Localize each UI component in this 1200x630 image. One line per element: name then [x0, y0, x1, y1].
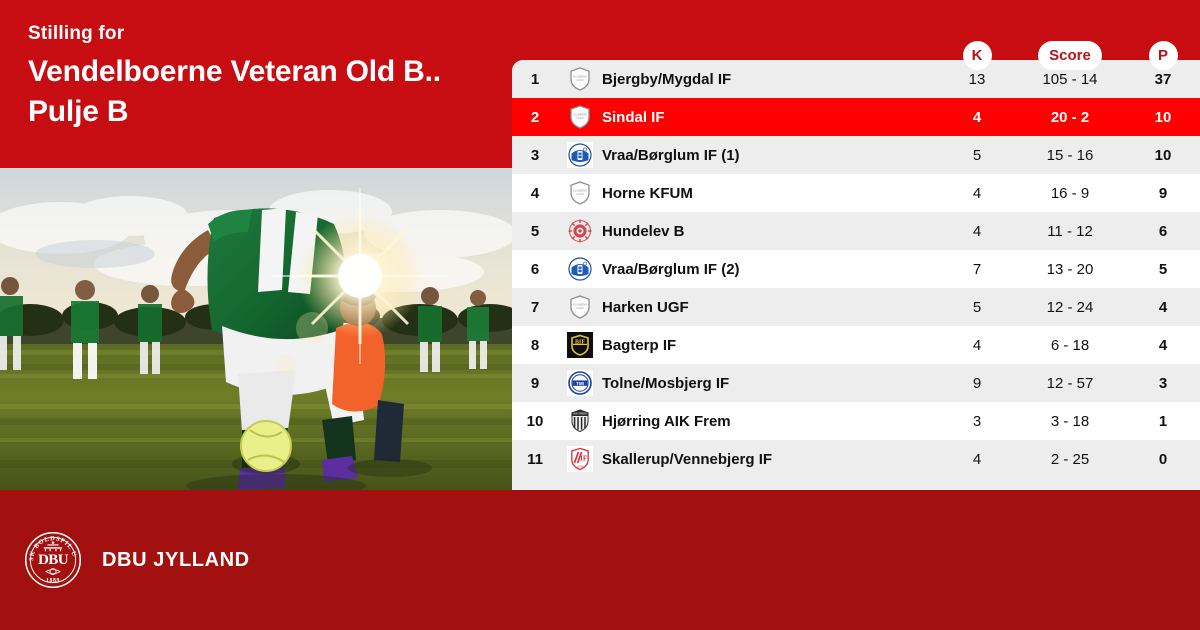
row-matches: 9: [940, 375, 1014, 392]
svg-text:IF: IF: [580, 454, 587, 462]
row-points: 10: [1126, 147, 1200, 164]
standings-table: 1KLUBBENSLOGOBjergby/Mygdal IF13105 - 14…: [512, 60, 1200, 490]
hero-photo: [0, 168, 512, 490]
row-position: 8: [512, 337, 558, 354]
row-position: 10: [512, 413, 558, 430]
row-matches: 13: [940, 71, 1014, 88]
svg-text:LOGO: LOGO: [576, 78, 584, 82]
table-row[interactable]: 6Vraa/Børglum IF (2)713 - 205: [512, 250, 1200, 288]
row-points: 5: [1126, 261, 1200, 278]
table-row[interactable]: 8BIFBagterp IF46 - 184: [512, 326, 1200, 364]
row-position: 3: [512, 147, 558, 164]
row-score: 3 - 18: [1014, 413, 1126, 430]
row-score: 15 - 16: [1014, 147, 1126, 164]
svg-text:KLUBBENS: KLUBBENS: [573, 113, 587, 117]
row-matches: 5: [940, 299, 1014, 316]
svg-text:LOGO: LOGO: [576, 116, 584, 120]
standings-card: Stilling for Vendelboerne Veteran Old B.…: [0, 0, 1200, 630]
row-points: 4: [1126, 299, 1200, 316]
row-team-name[interactable]: Skallerup/Vennebjerg IF: [602, 451, 940, 468]
table-row[interactable]: 4KLUBBENSLOGOHorne KFUM416 - 99: [512, 174, 1200, 212]
row-points: 6: [1126, 223, 1200, 240]
row-score: 2 - 25: [1014, 451, 1126, 468]
row-score: 105 - 14: [1014, 71, 1126, 88]
row-position: 9: [512, 375, 558, 392]
row-position: 1: [512, 71, 558, 88]
row-position: 6: [512, 261, 558, 278]
row-score: 6 - 18: [1014, 337, 1126, 354]
row-points: 1: [1126, 413, 1200, 430]
row-team-name[interactable]: Sindal IF: [602, 109, 940, 126]
row-matches: 7: [940, 261, 1014, 278]
table-row[interactable]: 7KLUBBENSLOGOHarken UGF512 - 244: [512, 288, 1200, 326]
table-row[interactable]: 2KLUBBENSLOGOSindal IF420 - 210: [512, 98, 1200, 136]
table-row[interactable]: 3Vraa/Børglum IF (1)515 - 1610: [512, 136, 1200, 174]
table-row[interactable]: 9TMITolne/Mosbjerg IF912 - 573: [512, 364, 1200, 402]
row-score: 13 - 20: [1014, 261, 1126, 278]
club-logo-icon: IF1934: [558, 446, 602, 472]
row-team-name[interactable]: Harken UGF: [602, 299, 940, 316]
club-logo-icon: TMI: [558, 370, 602, 396]
club-logo-icon: [558, 142, 602, 168]
row-points: 10: [1126, 109, 1200, 126]
dbu-crest-icon: DANSK BOLDSPIL UNION DBU 1889: [24, 531, 82, 589]
row-position: 4: [512, 185, 558, 202]
row-team-name[interactable]: Bjergby/Mygdal IF: [602, 71, 940, 88]
svg-text:LOGO: LOGO: [576, 306, 584, 310]
row-points: 9: [1126, 185, 1200, 202]
row-team-name[interactable]: Bagterp IF: [602, 337, 940, 354]
row-score: 20 - 2: [1014, 109, 1126, 126]
row-matches: 5: [940, 147, 1014, 164]
club-logo-icon: KLUBBENSLOGO: [558, 180, 602, 206]
row-matches: 4: [940, 223, 1014, 240]
club-logo-icon: KLUBBENSLOGO: [558, 66, 602, 92]
row-score: 16 - 9: [1014, 185, 1126, 202]
organization-name: DBU JYLLAND: [102, 549, 250, 572]
svg-text:TMI: TMI: [576, 381, 584, 386]
svg-text:1934: 1934: [577, 464, 584, 468]
club-logo-icon: [558, 256, 602, 282]
eyebrow-label: Stilling for: [28, 22, 540, 46]
svg-text:LOGO: LOGO: [576, 192, 584, 196]
svg-text:1889: 1889: [46, 578, 60, 584]
club-logo-icon: KLUBBENSLOGO: [558, 104, 602, 130]
row-points: 3: [1126, 375, 1200, 392]
row-team-name[interactable]: Vraa/Børglum IF (1): [602, 147, 940, 164]
table-row[interactable]: 5Hundelev B411 - 126: [512, 212, 1200, 250]
row-team-name[interactable]: Hjørring AIK Frem: [602, 413, 940, 430]
row-team-name[interactable]: Tolne/Mosbjerg IF: [602, 375, 940, 392]
row-position: 5: [512, 223, 558, 240]
row-matches: 4: [940, 185, 1014, 202]
svg-text:KLUBBENS: KLUBBENS: [573, 303, 587, 307]
table-row[interactable]: 10AIK FREMHjørring AIK Frem33 - 181: [512, 402, 1200, 440]
row-score: 12 - 57: [1014, 375, 1126, 392]
footer-bar: DANSK BOLDSPIL UNION DBU 1889: [0, 490, 1200, 630]
club-logo-icon: KLUBBENSLOGO: [558, 294, 602, 320]
row-position: 2: [512, 109, 558, 126]
pool-title: Pulje B: [28, 92, 540, 132]
club-logo-icon: BIF: [558, 332, 602, 358]
club-logo-icon: [558, 218, 602, 244]
row-position: 7: [512, 299, 558, 316]
row-score: 12 - 24: [1014, 299, 1126, 316]
svg-text:BIF: BIF: [575, 340, 585, 346]
row-matches: 4: [940, 337, 1014, 354]
row-matches: 3: [940, 413, 1014, 430]
page-title: Vendelboerne Veteran Old B..: [28, 52, 540, 92]
club-logo-icon: AIK FREM: [558, 408, 602, 434]
row-matches: 4: [940, 451, 1014, 468]
svg-text:AIK FREM: AIK FREM: [573, 411, 587, 415]
row-team-name[interactable]: Horne KFUM: [602, 185, 940, 202]
title-block: Stilling for Vendelboerne Veteran Old B.…: [0, 0, 540, 168]
row-points: 37: [1126, 71, 1200, 88]
table-row[interactable]: 1KLUBBENSLOGOBjergby/Mygdal IF13105 - 14…: [512, 60, 1200, 98]
row-matches: 4: [940, 109, 1014, 126]
row-score: 11 - 12: [1014, 223, 1126, 240]
row-points: 0: [1126, 451, 1200, 468]
table-row[interactable]: 11IF1934Skallerup/Vennebjerg IF42 - 250: [512, 440, 1200, 478]
row-position: 11: [512, 451, 558, 468]
row-team-name[interactable]: Hundelev B: [602, 223, 940, 240]
svg-text:DBU: DBU: [38, 552, 69, 568]
row-points: 4: [1126, 337, 1200, 354]
svg-text:KLUBBENS: KLUBBENS: [573, 189, 587, 193]
row-team-name[interactable]: Vraa/Børglum IF (2): [602, 261, 940, 278]
svg-text:KLUBBENS: KLUBBENS: [573, 75, 587, 79]
